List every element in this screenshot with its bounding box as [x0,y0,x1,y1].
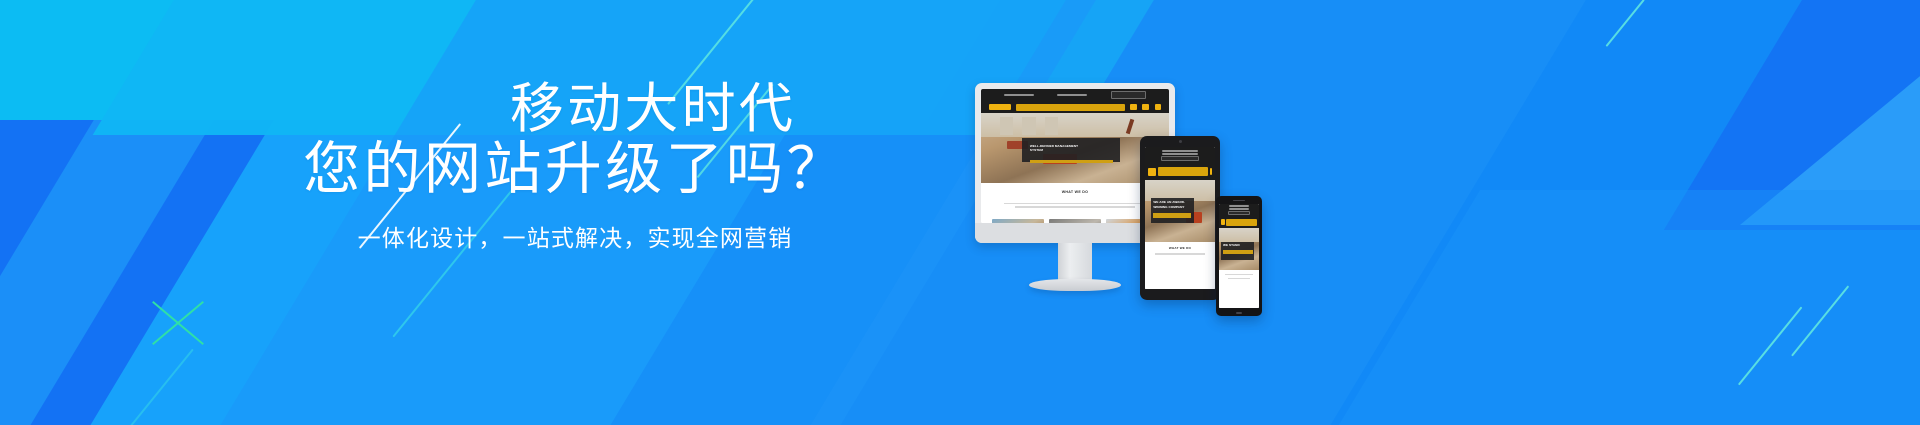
site-nav-items [1158,167,1208,176]
site-hero-plate: WE ARE AN AWARD- WINNING COMPANY [1151,198,1194,223]
site-topbar [1219,204,1259,216]
site-hero-title-1: WE STAND [1223,243,1253,248]
tablet-device: WE ARE AN AWARD- WINNING COMPANY WHAT WE… [1140,136,1220,300]
site-section-title: WHAT WE DO [992,190,1157,194]
site-logo [1148,168,1156,177]
site-hero: WE ARE AN AWARD- WINNING COMPANY [1145,180,1215,242]
phone-speaker [1233,200,1245,202]
site-cards [992,219,1157,223]
site-hero-title-2: SYSTEM [1030,148,1113,153]
site-hero-title-2: WINNING COMPANY [1153,205,1191,210]
site-nav-items [1016,104,1125,111]
site-topbar [1145,147,1215,164]
phone-website-preview: WE STAND [1219,204,1259,308]
site-section-title: WHAT WE DO [1149,246,1211,250]
site-hero-plate: WE STAND [1221,242,1254,260]
site-topbar [981,89,1169,101]
site-logo [989,104,1011,111]
site-navbar [1219,216,1259,227]
phone-home-button[interactable] [1236,312,1242,314]
smartphone-device: WE STAND [1216,196,1262,316]
site-body: WHAT WE DO [1145,242,1215,289]
phone-screen: WE STAND [1219,204,1259,308]
site-body [1219,270,1259,301]
site-hero: WE STAND [1219,228,1259,270]
monitor-stand-neck [1058,243,1092,281]
device-mockup-group: WELL-DEFINED MANAGEMENT SYSTEM WHAT WE D… [940,78,1270,358]
site-navbar [981,101,1169,113]
tablet-camera [1179,140,1182,143]
site-nav-items [1226,219,1257,226]
hero-banner: 移动大时代 您的网站升级了吗？ 一体化设计，一站式解决，实现全网营销 [0,0,1920,425]
site-hero-plate: WELL-DEFINED MANAGEMENT SYSTEM [1022,138,1120,162]
site-navbar [1145,164,1215,180]
tablet-website-preview: WE ARE AN AWARD- WINNING COMPANY WHAT WE… [1145,147,1215,289]
tablet-screen: WE ARE AN AWARD- WINNING COMPANY WHAT WE… [1145,147,1215,289]
monitor-stand-base [1029,279,1121,291]
site-logo [1221,219,1226,225]
